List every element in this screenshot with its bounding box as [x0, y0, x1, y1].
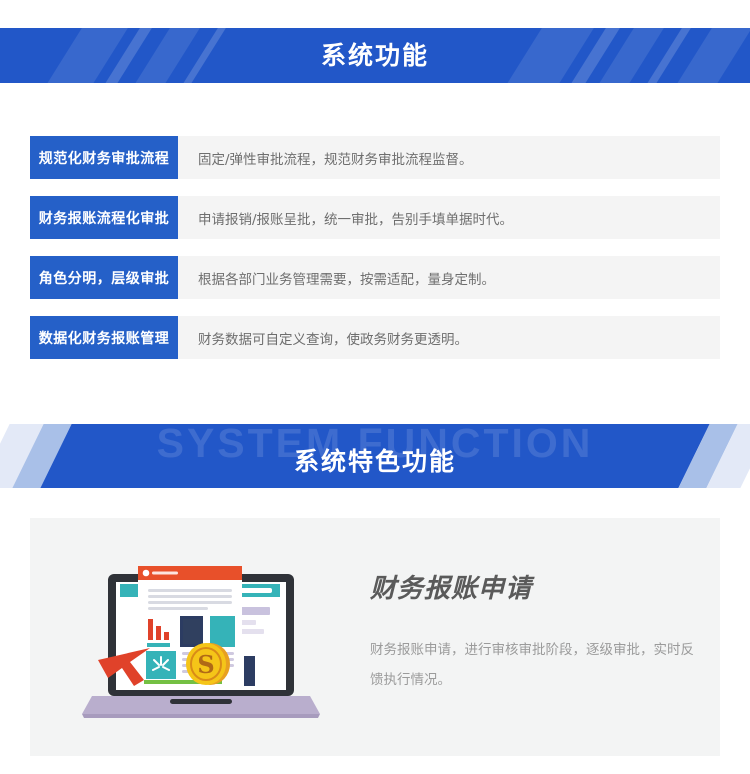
section-banner-system-function: 系统功能 — [0, 28, 750, 83]
feature-row: 规范化财务审批流程 固定/弹性审批流程，规范财务审批流程监督。 — [30, 136, 720, 179]
spotlight-description: 财务报账申请，进行审核审批阶段，逐级审批，实时反馈执行情况。 — [370, 635, 700, 695]
spotlight-card: S 财务报账申请 财务报账申请，进行审核审批阶段，逐级审批，实时反馈执行情况。 — [30, 518, 720, 756]
feature-description: 根据各部门业务管理需要，按需适配，量身定制。 — [178, 256, 720, 299]
feature-tag-label: 角色分明，层级审批 — [30, 256, 178, 299]
feature-description: 申请报销/报账呈批，统一审批，告别手填单据时代。 — [178, 196, 720, 239]
feature-tag-label: 数据化财务报账管理 — [30, 316, 178, 359]
banner-secondary-title: 系统特色功能 — [0, 442, 750, 478]
feature-list: 规范化财务审批流程 固定/弹性审批流程，规范财务审批流程监督。 财务报账流程化审… — [30, 136, 720, 376]
feature-description: 财务数据可自定义查询，使政务财务更透明。 — [178, 316, 720, 359]
feature-row: 数据化财务报账管理 财务数据可自定义查询，使政务财务更透明。 — [30, 316, 720, 359]
spotlight-title: 财务报账申请 — [370, 568, 700, 605]
feature-description: 固定/弹性审批流程，规范财务审批流程监督。 — [178, 136, 720, 179]
feature-tag-label: 规范化财务审批流程 — [30, 136, 178, 179]
laptop-finance-report-illustration: S — [78, 544, 328, 734]
feature-tag-label: 财务报账流程化审批 — [30, 196, 178, 239]
spotlight-text-block: 财务报账申请 财务报账申请，进行审核审批阶段，逐级审批，实时反馈执行情况。 — [370, 568, 700, 695]
svg-text:S: S — [197, 650, 214, 679]
banner-primary-title: 系统功能 — [0, 28, 750, 83]
feature-row: 角色分明，层级审批 根据各部门业务管理需要，按需适配，量身定制。 — [30, 256, 720, 299]
section-banner-special-function: SYSTEM FUNCTION 系统特色功能 — [0, 424, 750, 488]
feature-row: 财务报账流程化审批 申请报销/报账呈批，统一审批，告别手填单据时代。 — [30, 196, 720, 239]
